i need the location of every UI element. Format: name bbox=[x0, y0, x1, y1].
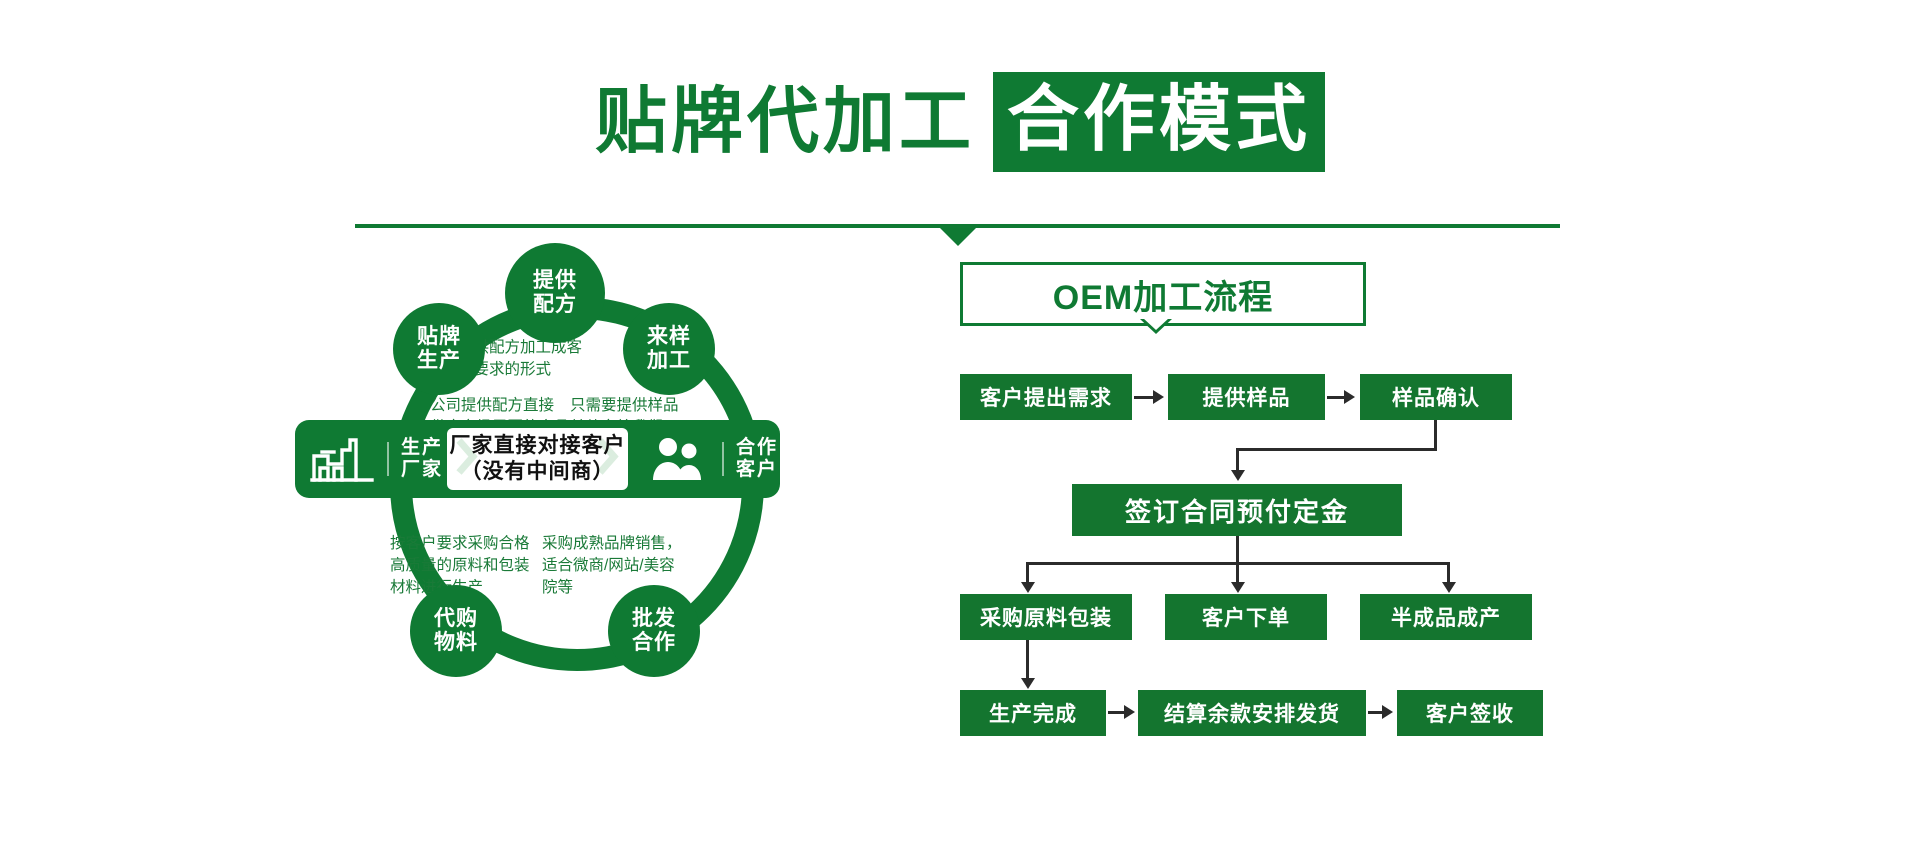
flow-box-customer-request[interactable]: 客户提出需求 bbox=[960, 374, 1132, 420]
customers-icon bbox=[642, 432, 712, 486]
flow-box-customer-receipt[interactable]: 客户签收 bbox=[1397, 690, 1543, 736]
flow-connector-4c bbox=[1026, 562, 1029, 584]
flow-box-provide-sample[interactable]: 提供样品 bbox=[1168, 374, 1325, 420]
flow-arrow-down-5 bbox=[1021, 678, 1035, 689]
flow-box-settle-shipment[interactable]: 结算余款安排发货 bbox=[1138, 690, 1366, 736]
page-title: 贴牌代加工 合作模式 bbox=[0, 72, 1920, 172]
flow-connector-4a bbox=[1236, 536, 1239, 564]
flow-connector-4d bbox=[1236, 562, 1239, 584]
flow-box-semi-finished[interactable]: 半成品成产 bbox=[1360, 594, 1532, 640]
flow-arrow-down-1 bbox=[1231, 470, 1245, 481]
flow-connector-1 bbox=[1134, 396, 1154, 399]
bar-center-text: 厂家直接对接客户 （没有中间商） bbox=[450, 433, 626, 484]
page-title-plain: 贴牌代加工 bbox=[595, 86, 975, 158]
flow-arrow-down-4 bbox=[1442, 582, 1456, 593]
flow-arrow-right-3 bbox=[1124, 705, 1135, 719]
flow-box-sample-confirm[interactable]: 样品确认 bbox=[1360, 374, 1512, 420]
flow-connector-3b bbox=[1236, 448, 1437, 451]
page-title-highlight: 合作模式 bbox=[993, 72, 1325, 172]
factory-label: 生产 厂家 bbox=[399, 437, 445, 481]
flow-connector-4e bbox=[1447, 562, 1450, 584]
flow-connector-2 bbox=[1327, 396, 1345, 399]
bar-center-panel: 厂家直接对接客户 （没有中间商） bbox=[447, 428, 628, 490]
circle-node-oem-production[interactable]: 贴牌 生产 bbox=[393, 303, 485, 395]
flow-arrow-right-2 bbox=[1344, 390, 1355, 404]
flow-connector-3a bbox=[1434, 420, 1437, 450]
flow-arrow-down-3 bbox=[1231, 582, 1245, 593]
divider-caret-icon bbox=[940, 228, 976, 246]
factory-icon bbox=[307, 432, 377, 486]
flow-arrow-right-4 bbox=[1382, 705, 1393, 719]
flowchart-title-notch-icon bbox=[1140, 319, 1172, 334]
oem-flowchart: OEM加工流程 客户提出需求 提供样品 样品确认 签订合同预付定金 采购原料包装… bbox=[960, 262, 1580, 782]
circle-node-purchase-material[interactable]: 代购 物料 bbox=[410, 585, 502, 677]
flow-box-production-done[interactable]: 生产完成 bbox=[960, 690, 1106, 736]
flow-box-sign-contract[interactable]: 签订合同预付定金 bbox=[1072, 484, 1402, 536]
factory-to-customer-bar: 生产 厂家 厂家直接对接客户 （没有中间商） 合作 客户 bbox=[295, 420, 780, 498]
cooperation-circle-diagram: 提供配方加工成客 户要求的形式 公司提供配方直接 供应市场需要的产品 只需要提供… bbox=[330, 255, 890, 795]
flowchart-title: OEM加工流程 bbox=[960, 262, 1366, 326]
flow-box-purchase-packaging[interactable]: 采购原料包装 bbox=[960, 594, 1132, 640]
circle-node-wholesale[interactable]: 批发 合作 bbox=[608, 585, 700, 677]
poster-canvas: 贴牌代加工 合作模式 提供配方加工成客 户要求的形式 公司提供配方直接 供应市场… bbox=[0, 0, 1920, 857]
flow-box-customer-order[interactable]: 客户下单 bbox=[1165, 594, 1327, 640]
flow-arrow-down-2 bbox=[1021, 582, 1035, 593]
circle-node-sample-processing[interactable]: 来样 加工 bbox=[623, 303, 715, 395]
circle-node-provide-formula[interactable]: 提供 配方 bbox=[505, 243, 605, 343]
customers-label: 合作 客户 bbox=[734, 437, 780, 481]
bar-divider-right bbox=[722, 442, 724, 476]
flow-arrow-right-1 bbox=[1153, 390, 1164, 404]
flow-connector-5a bbox=[1026, 640, 1029, 680]
flow-connector-3c bbox=[1236, 448, 1239, 472]
bar-divider-left bbox=[387, 442, 389, 476]
